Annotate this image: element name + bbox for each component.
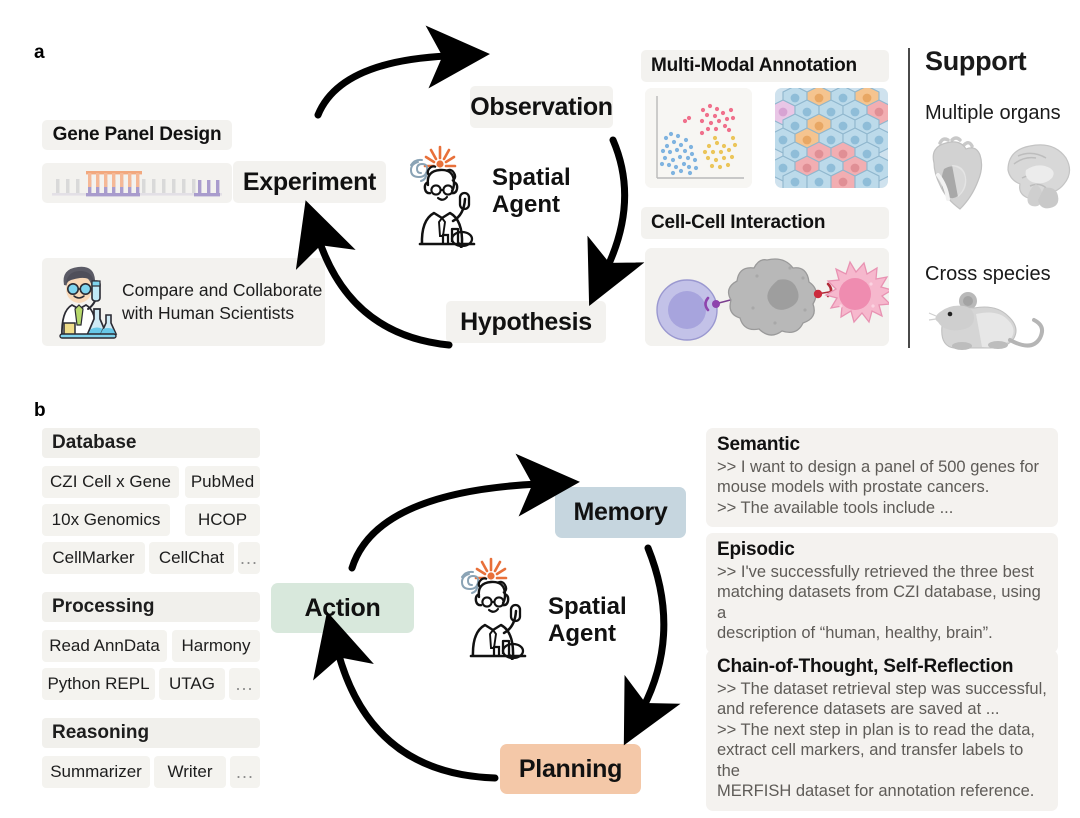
support-item-multiple-organs: Multiple organs xyxy=(925,102,1061,125)
panel-a-letter: a xyxy=(34,42,45,64)
node-memory[interactable]: Memory xyxy=(555,487,686,538)
tool-chip-read-anndata[interactable]: Read AnnData xyxy=(42,630,167,662)
memory-card-semantic-title: Semantic xyxy=(717,434,1047,456)
tool-chip-python-repl[interactable]: Python REPL xyxy=(42,668,155,700)
panel-a-divider xyxy=(908,48,910,348)
arrow-observation-to-hypothesis xyxy=(607,140,625,268)
spatial-agent-line2-a: Agent xyxy=(492,192,571,219)
robot-scientist-icon xyxy=(396,143,488,248)
umap-scatter-icon xyxy=(645,88,752,188)
tool-group-heading-database: Database xyxy=(42,428,260,458)
node-memory-label: Memory xyxy=(573,498,667,527)
dna-probe-panel-icon xyxy=(42,163,232,203)
human-scientist-icon xyxy=(48,259,120,344)
tool-chip-10x-genomics[interactable]: 10x Genomics xyxy=(42,504,170,536)
node-planning[interactable]: Planning xyxy=(500,744,641,794)
multi-modal-annotation-title: Multi-Modal Annotation xyxy=(641,50,889,82)
memory-card-semantic: Semantic >> I want to design a panel of … xyxy=(706,428,1058,527)
memory-card-semantic-line-1: >> I want to design a panel of 500 genes… xyxy=(717,457,1047,477)
node-action-label: Action xyxy=(305,594,381,623)
memory-card-chain-of-thought: Chain-of-Thought, Self-Reflection >> The… xyxy=(706,650,1058,811)
memory-card-episodic: Episodic >> I've successfully retrieved … xyxy=(706,533,1058,653)
memory-card-episodic-line-3: description of “human, healthy, brain”. xyxy=(717,623,1047,643)
figure-root: a Gene Panel Design xyxy=(0,0,1080,818)
node-observation[interactable]: Observation xyxy=(470,86,613,128)
node-planning-label: Planning xyxy=(519,755,622,784)
robot-scientist-icon-b xyxy=(447,555,539,660)
node-hypothesis-label: Hypothesis xyxy=(460,308,592,337)
tool-chip-database-more[interactable]: ... xyxy=(238,542,260,574)
tool-chip-czi-cell-x-gene[interactable]: CZI Cell x Gene xyxy=(42,466,179,498)
node-hypothesis[interactable]: Hypothesis xyxy=(446,301,606,343)
multi-modal-annotation-label: Multi-Modal Annotation xyxy=(651,55,857,77)
tool-chip-hcop[interactable]: HCOP xyxy=(185,504,260,536)
cell-cell-interaction-label: Cell-Cell Interaction xyxy=(651,212,825,234)
spatial-agent-line2-b: Agent xyxy=(548,621,627,648)
tool-chip-summarizer[interactable]: Summarizer xyxy=(42,756,150,788)
node-action[interactable]: Action xyxy=(271,583,414,633)
support-item-cross-species: Cross species xyxy=(925,263,1051,286)
panel-b-letter: b xyxy=(34,400,46,422)
memory-card-semantic-line-3: >> The available tools include ... xyxy=(717,498,1047,518)
spatial-agent-label-b: Spatial Agent xyxy=(548,594,627,648)
memory-card-cot-line-3: >> The next step in plan is to read the … xyxy=(717,720,1047,740)
tool-chip-utag[interactable]: UTAG xyxy=(159,668,225,700)
gene-panel-design-label: Gene Panel Design xyxy=(53,124,222,146)
tool-chip-cellmarker[interactable]: CellMarker xyxy=(42,542,145,574)
memory-card-episodic-line-1: >> I've successfully retrieved the three… xyxy=(717,562,1047,582)
heart-organ-icon xyxy=(922,135,984,215)
mouse-animal-icon xyxy=(928,288,1048,354)
memory-card-cot-line-1: >> The dataset retrieval step was succes… xyxy=(717,679,1047,699)
tool-group-heading-processing: Processing xyxy=(42,592,260,622)
tool-chip-harmony[interactable]: Harmony xyxy=(172,630,260,662)
arrow-memory-to-planning xyxy=(643,548,664,708)
gene-panel-design-title: Gene Panel Design xyxy=(42,120,232,150)
cell-cell-interaction-title: Cell-Cell Interaction xyxy=(641,207,889,239)
spatial-agent-line1-a: Spatial xyxy=(492,165,571,192)
spatial-agent-label-a: Spatial Agent xyxy=(492,165,571,219)
memory-card-semantic-line-2: mouse models with prostate cancers. xyxy=(717,477,1047,497)
tool-chip-cellchat[interactable]: CellChat xyxy=(149,542,234,574)
tool-chip-writer[interactable]: Writer xyxy=(154,756,226,788)
collaborate-line-2: with Human Scientists xyxy=(122,302,322,325)
memory-card-chain-of-thought-title: Chain-of-Thought, Self-Reflection xyxy=(717,656,1047,678)
tool-chip-reasoning-more[interactable]: ... xyxy=(230,756,260,788)
cell-interaction-icon xyxy=(645,248,889,346)
support-title: Support xyxy=(925,46,1026,77)
node-observation-label: Observation xyxy=(470,93,613,122)
arrow-hypothesis-to-experiment xyxy=(319,240,449,345)
collaborate-card: Compare and Collaborate with Human Scien… xyxy=(42,258,325,346)
spatial-agent-line1-b: Spatial xyxy=(548,594,627,621)
tool-group-heading-reasoning: Reasoning xyxy=(42,718,260,748)
memory-card-episodic-title: Episodic xyxy=(717,539,1047,561)
memory-card-episodic-line-2: matching datasets from CZI database, usi… xyxy=(717,582,1047,623)
arrow-experiment-to-observation xyxy=(318,56,448,115)
memory-card-cot-line-5: MERFISH dataset for annotation reference… xyxy=(717,781,1047,801)
node-experiment-label: Experiment xyxy=(243,168,376,197)
brain-organ-icon xyxy=(1000,140,1072,210)
tool-chip-pubmed[interactable]: PubMed xyxy=(185,466,260,498)
memory-card-cot-line-2: and reference datasets are saved at ... xyxy=(717,699,1047,719)
memory-card-cot-line-4: extract cell markers, and transfer label… xyxy=(717,740,1047,781)
tool-chip-processing-more[interactable]: ... xyxy=(229,668,260,700)
tissue-hexmap-icon xyxy=(775,88,888,188)
collaborate-line-1: Compare and Collaborate xyxy=(122,279,322,302)
node-experiment[interactable]: Experiment xyxy=(233,161,386,203)
arrow-planning-to-action xyxy=(338,652,495,778)
